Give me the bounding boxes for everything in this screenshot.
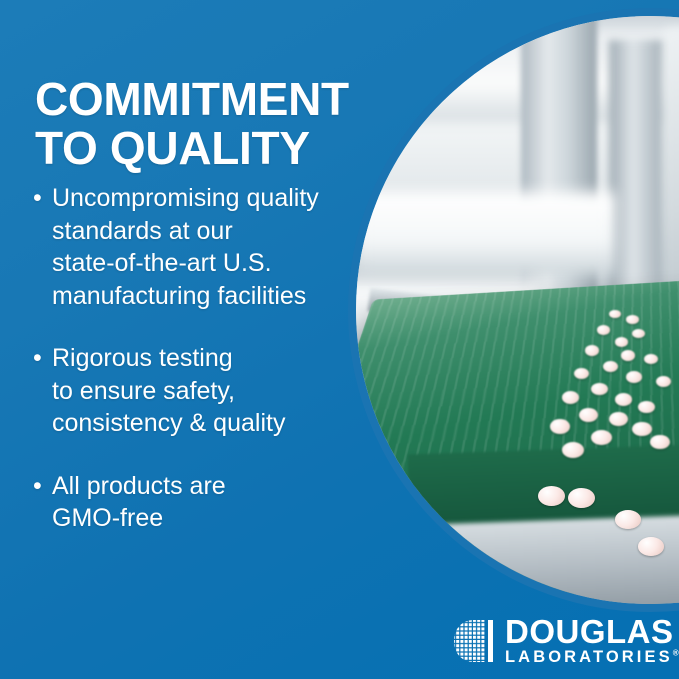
- photo-circle-frame: [348, 8, 679, 612]
- douglas-grid-mark-icon: [452, 619, 496, 663]
- logo-brand: DOUGLAS: [505, 616, 679, 647]
- manufacturing-photo: [356, 16, 679, 604]
- bullet-line: manufacturing facilities: [52, 280, 353, 313]
- bullet-line: Rigorous testing: [52, 342, 353, 375]
- bullet-line: Uncompromising quality: [52, 182, 353, 215]
- bullet-line: All products are: [52, 470, 353, 503]
- metal-column: [521, 16, 597, 322]
- list-item: • Uncompromising quality standards at ou…: [33, 182, 353, 312]
- logo-wordmark: DOUGLAS LABORATORIES®: [505, 616, 679, 666]
- bullet-line: standards at our: [52, 215, 353, 248]
- bullet-text: Rigorous testing to ensure safety, consi…: [52, 342, 353, 440]
- bullet-dot-icon: •: [33, 342, 52, 375]
- list-item: • All products are GMO-free: [33, 470, 353, 535]
- metal-column-secondary: [609, 40, 662, 322]
- bullet-dot-icon: •: [33, 182, 52, 215]
- bullet-list: • Uncompromising quality standards at ou…: [33, 182, 353, 565]
- bullet-line: GMO-free: [52, 502, 353, 535]
- list-item: • Rigorous testing to ensure safety, con…: [33, 342, 353, 440]
- commitment-to-quality-poster: COMMITMENT TO QUALITY • Uncompromising q…: [0, 0, 679, 679]
- headline-line-2: TO QUALITY: [35, 124, 365, 173]
- bullet-dot-icon: •: [33, 470, 52, 503]
- bullet-line: consistency & quality: [52, 407, 353, 440]
- bullet-text: Uncompromising quality standards at our …: [52, 182, 353, 312]
- machine-housing: [662, 28, 679, 322]
- logo-subbrand-text: LABORATORIES: [505, 648, 673, 666]
- bullet-line: state-of-the-art U.S.: [52, 247, 353, 280]
- registered-trademark-icon: ®: [673, 649, 679, 658]
- overhead-light: [356, 192, 615, 274]
- bullet-line: to ensure safety,: [52, 375, 353, 408]
- brand-logo: DOUGLAS LABORATORIES®: [452, 616, 679, 666]
- page-title: COMMITMENT TO QUALITY: [35, 75, 365, 173]
- logo-subbrand: LABORATORIES®: [505, 649, 679, 666]
- bullet-text: All products are GMO-free: [52, 470, 353, 535]
- headline-line-1: COMMITMENT: [35, 73, 349, 125]
